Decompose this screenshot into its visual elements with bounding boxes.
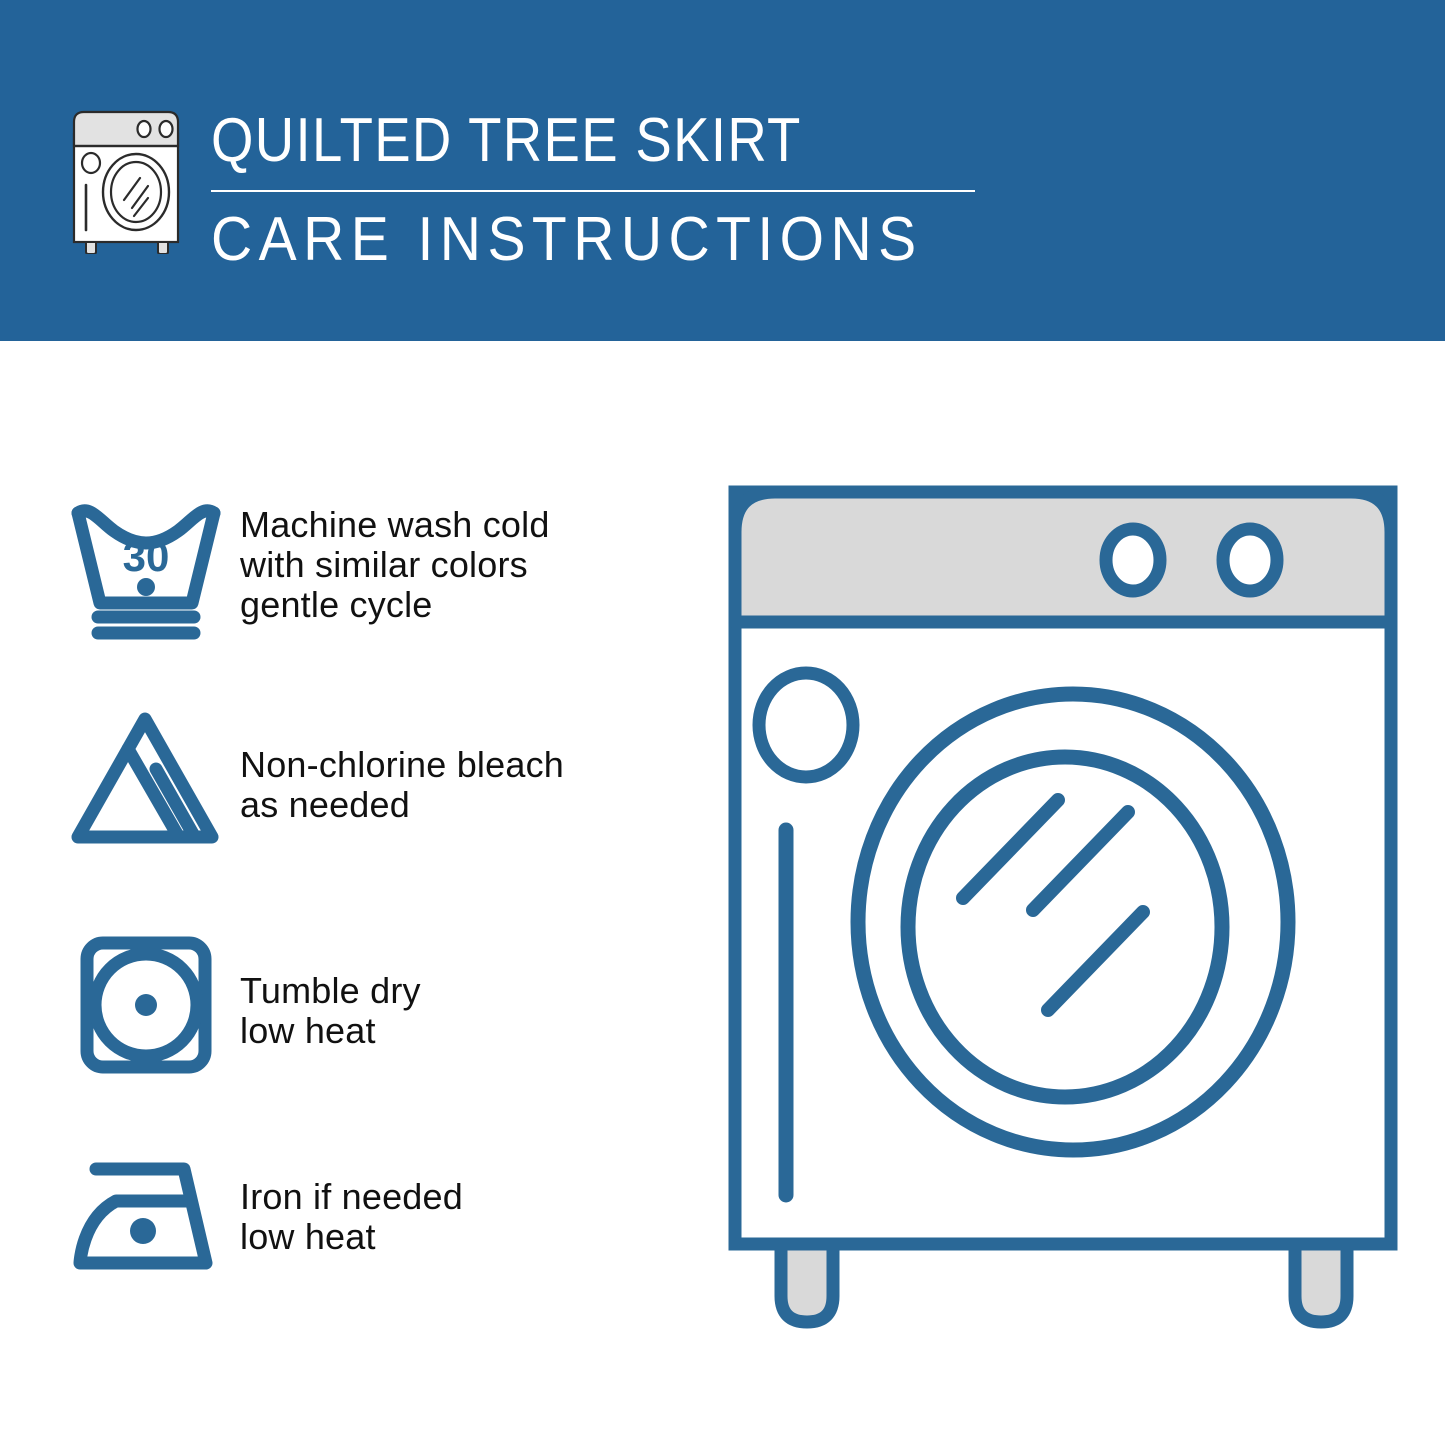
- care-row-iron: Iron if needed low heat: [60, 1141, 700, 1291]
- wash-temperature-label: 30: [123, 533, 170, 580]
- care-text-bleach: Non-chlorine bleach as needed: [240, 705, 564, 825]
- front-load-washing-machine-illustration: [713, 470, 1413, 1360]
- care-line: gentle cycle: [240, 585, 550, 625]
- care-line: with similar colors: [240, 545, 550, 585]
- page-title: QUILTED TREE SKIRT: [211, 106, 915, 176]
- page-subtitle: CARE INSTRUCTIONS: [211, 204, 947, 276]
- care-line: Non-chlorine bleach: [240, 745, 564, 785]
- detergent-dispenser-circle: [759, 673, 853, 777]
- title-divider: [211, 190, 975, 192]
- care-line: Tumble dry: [240, 971, 421, 1011]
- care-row-bleach: Non-chlorine bleach as needed: [60, 705, 700, 855]
- care-instructions-page: QUILTED TREE SKIRT CARE INSTRUCTIONS 30: [0, 0, 1445, 1445]
- door-inner-ring: [908, 757, 1222, 1097]
- non-chlorine-bleach-triangle-icon: [60, 705, 240, 855]
- care-text-tumble-dry: Tumble dry low heat: [240, 931, 421, 1051]
- care-row-machine-wash: 30 Machine wash cold with similar colors…: [60, 491, 700, 641]
- control-knob: [1223, 529, 1277, 591]
- iron-low-heat-icon: [60, 1141, 240, 1291]
- washing-machine-icon: [62, 104, 190, 254]
- care-text-machine-wash: Machine wash cold with similar colors ge…: [240, 491, 550, 625]
- care-line: Iron if needed: [240, 1177, 463, 1217]
- header-banner: QUILTED TREE SKIRT CARE INSTRUCTIONS: [0, 0, 1445, 341]
- care-line: Machine wash cold: [240, 505, 550, 545]
- control-knob: [1106, 529, 1160, 591]
- care-row-tumble-dry: Tumble dry low heat: [60, 931, 700, 1081]
- care-line: low heat: [240, 1011, 421, 1051]
- tumble-dry-low-icon: [60, 931, 240, 1081]
- control-panel: [735, 492, 1391, 622]
- care-line: as needed: [240, 785, 564, 825]
- care-text-iron: Iron if needed low heat: [240, 1141, 463, 1257]
- wash-tub-30-gentle-icon: 30: [60, 491, 240, 641]
- machine-leg: [1295, 1244, 1347, 1322]
- machine-leg: [781, 1244, 833, 1322]
- header-text-block: QUILTED TREE SKIRT CARE INSTRUCTIONS: [211, 106, 1011, 276]
- care-line: low heat: [240, 1217, 463, 1257]
